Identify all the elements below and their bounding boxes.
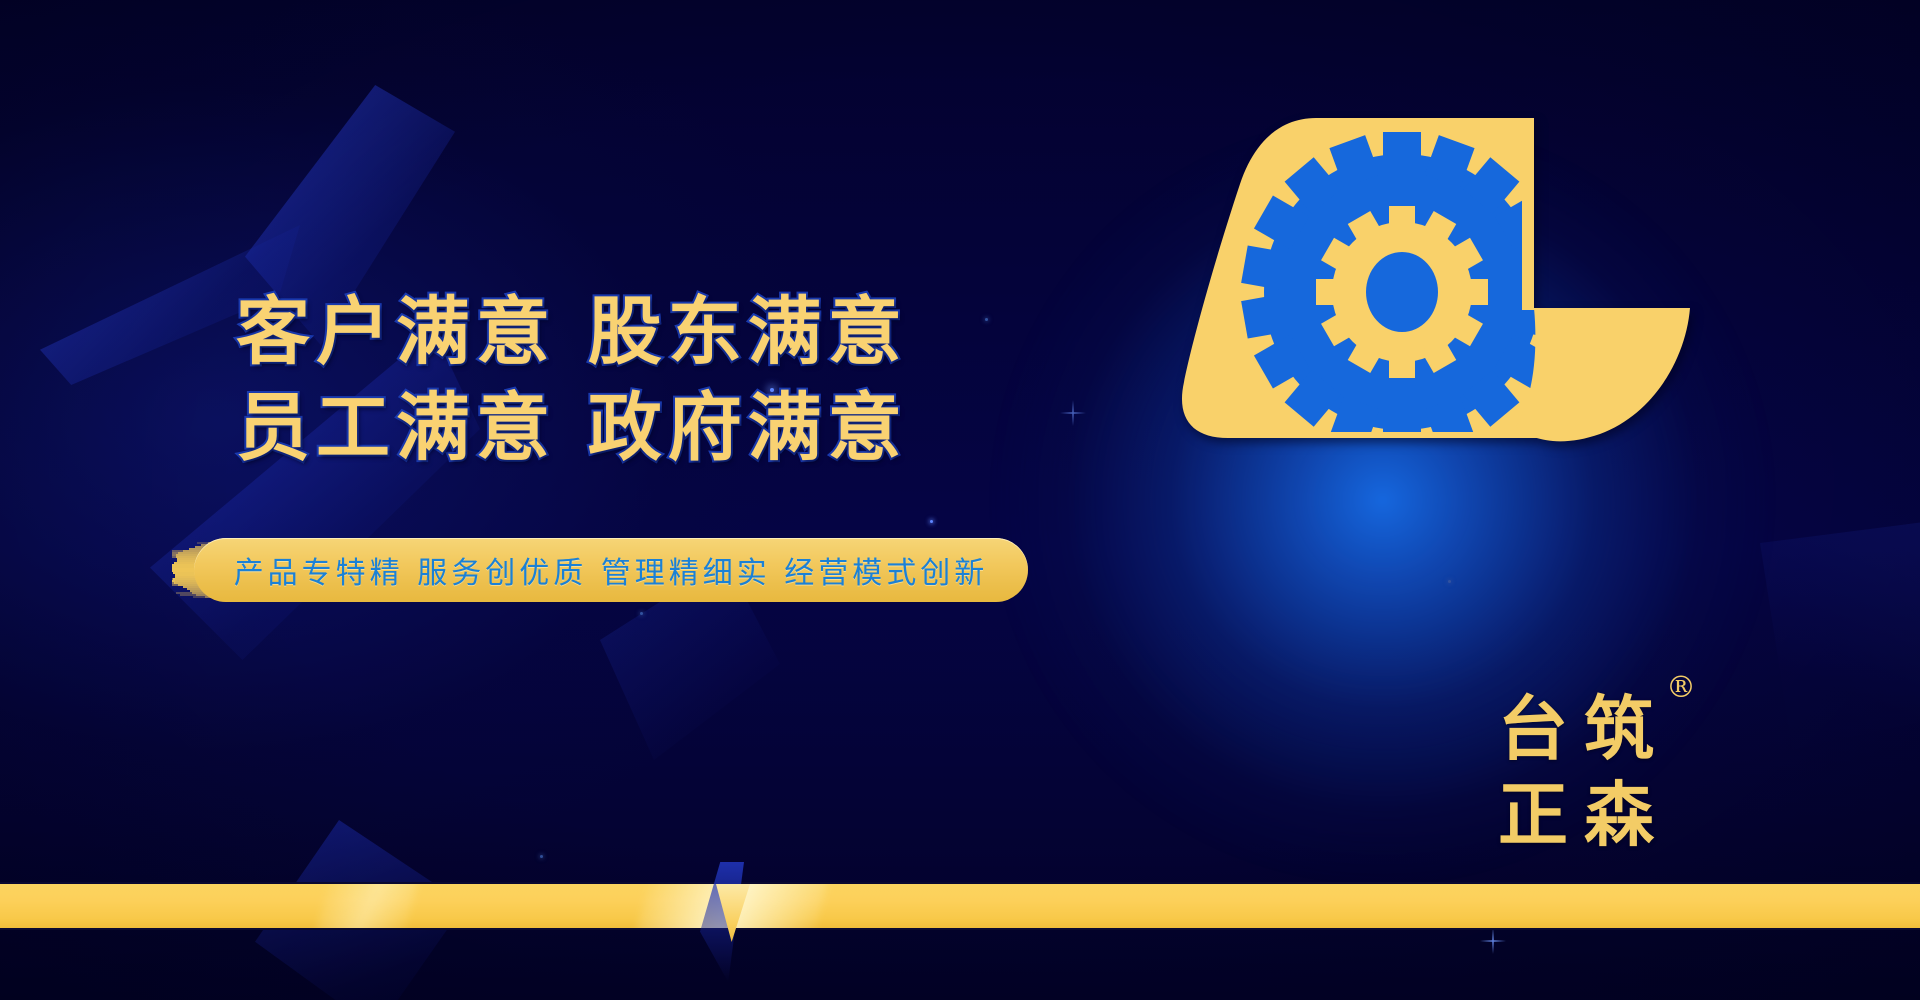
gear-wedge-logo-icon: [1130, 96, 1690, 486]
star-speck: [1448, 580, 1451, 583]
banner-canvas: 客户满意 股东满意 员工满意 政府满意 产品专特精 服务创优质 管理精细实 经营…: [0, 0, 1920, 1000]
wordmark-char-1: 台: [1490, 686, 1576, 772]
wordmark-characters: 台 筑 正 森: [1490, 686, 1662, 858]
slogan-text: 产品专特精 服务创优质 管理精细实 经营模式创新: [194, 538, 1028, 602]
star-speck: [930, 520, 933, 523]
star-speck: [640, 612, 643, 615]
star-sparkle: [1060, 400, 1086, 426]
headline-block: 客户满意 股东满意 员工满意 政府满意: [236, 288, 996, 473]
wordmark-char-4: 森: [1576, 772, 1662, 858]
slogan-pill: 产品专特精 服务创优质 管理精细实 经营模式创新: [172, 538, 1028, 602]
headline-line-2: 员工满意 政府满意: [236, 384, 996, 474]
star-speck: [540, 855, 543, 858]
bottom-gold-band: [0, 882, 1920, 930]
brand-wordmark: ® 台 筑 正 森: [1490, 686, 1690, 866]
band-light-streak: [310, 882, 420, 930]
wordmark-char-2: 筑: [1576, 686, 1662, 772]
headline-line-1: 客户满意 股东满意: [236, 288, 996, 378]
star-sparkle: [1480, 928, 1506, 954]
registered-trademark-icon: ®: [1666, 670, 1696, 705]
wordmark-char-3: 正: [1490, 772, 1576, 858]
